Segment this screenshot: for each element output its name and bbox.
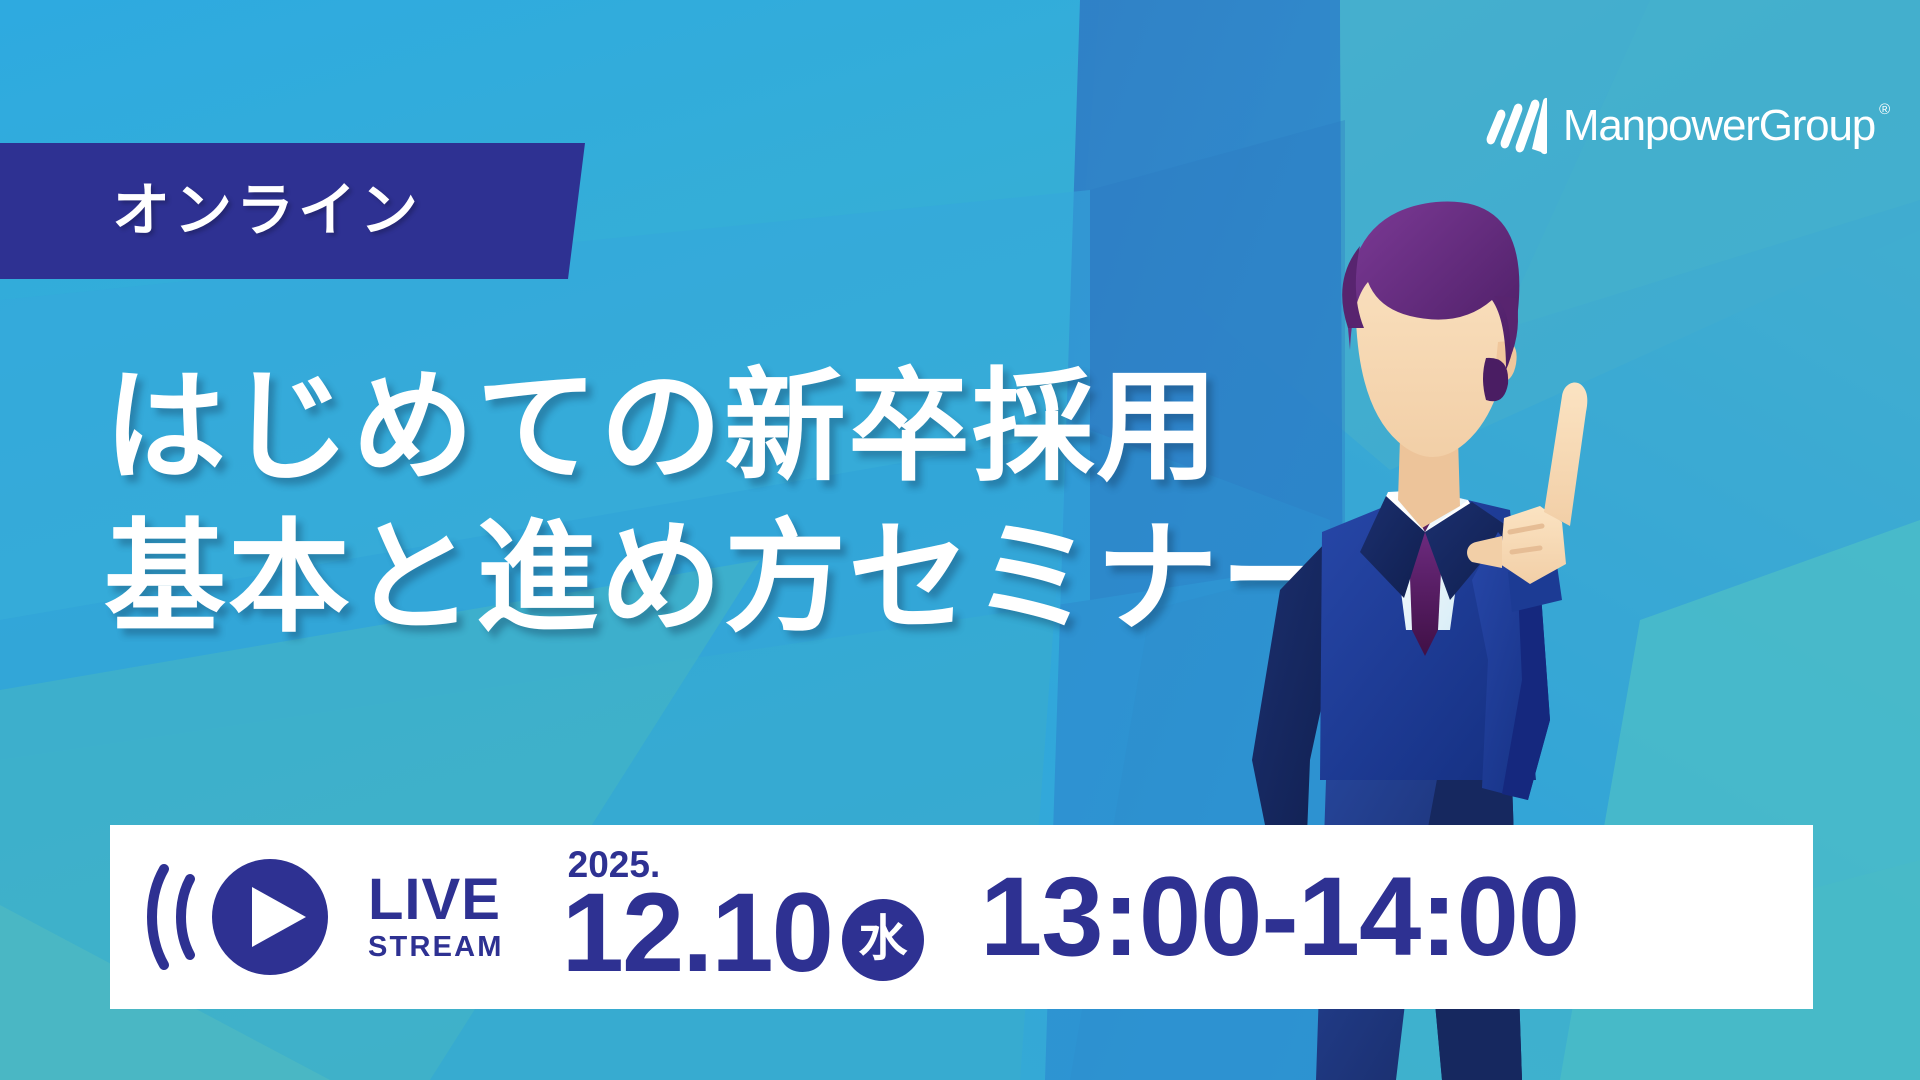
live-stream-logo: LIVE STREAM — [142, 853, 504, 981]
live-stream-text: LIVE STREAM — [368, 872, 504, 962]
page-title: はじめての新卒採用 基本と進め方セミナー — [104, 352, 1344, 655]
online-badge-label: オンライン — [112, 182, 422, 240]
registered-mark: ® — [1879, 102, 1889, 117]
online-badge: オンライン — [0, 143, 585, 279]
event-weekday-badge: 水 — [842, 899, 924, 981]
manpowergroup-wordmark: ManpowerGroup® — [1563, 104, 1875, 148]
live-label: LIVE — [368, 872, 504, 928]
headline-line-2: 基本と進め方セミナー — [104, 503, 1344, 654]
headline-line-1: はじめての新卒採用 — [104, 352, 1344, 503]
stream-label: STREAM — [368, 932, 504, 962]
seminar-banner: オンライン ManpowerGroup® はじめての新卒採用 基本と進め方セミナ… — [0, 0, 1920, 1080]
manpowergroup-logo: ManpowerGroup® — [1485, 95, 1875, 157]
event-time: 13:00-14:00 — [980, 861, 1579, 973]
manpowergroup-name: ManpowerGroup — [1563, 101, 1875, 150]
event-date: 2025. 12.10 水 — [562, 846, 924, 989]
event-info-bar: LIVE STREAM 2025. 12.10 水 13:00-14:00 — [110, 825, 1813, 1009]
manpowergroup-bars-icon — [1485, 97, 1547, 155]
event-month-day: 12.10 — [562, 877, 832, 989]
live-stream-play-icon — [142, 853, 364, 981]
date-stack: 2025. 12.10 — [562, 846, 832, 989]
